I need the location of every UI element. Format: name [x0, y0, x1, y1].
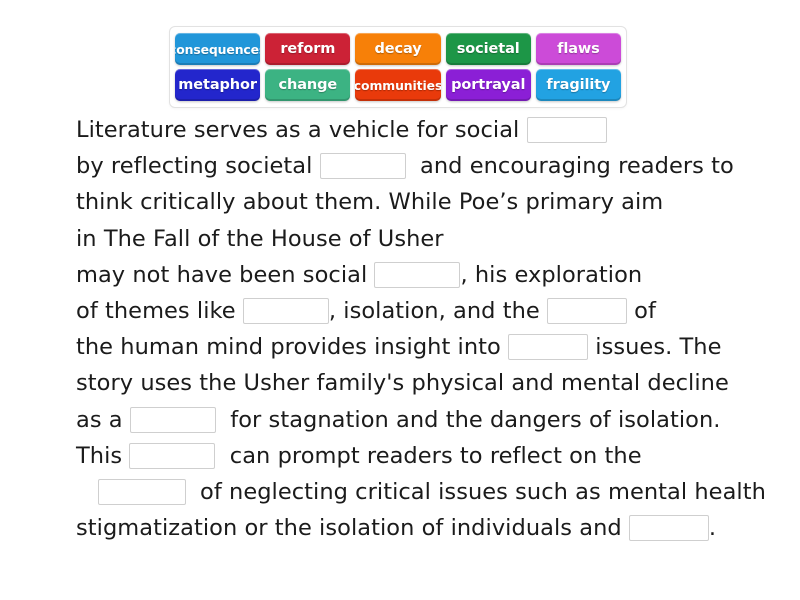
passage-text-segment: and encouraging readers to	[406, 148, 734, 184]
word-bank: consequencesreformdecaysocietalflawsmeta…	[169, 26, 627, 108]
passage-text-segment	[76, 474, 98, 510]
word-tile-consequences[interactable]: consequences	[175, 33, 260, 65]
passage-text-segment: This	[76, 438, 129, 474]
passage-text-segment: of	[627, 293, 656, 329]
passage-text-segment: by reflecting societal	[76, 148, 320, 184]
passage-line: stigmatization or the isolation of indiv…	[76, 510, 736, 546]
passage-text-segment: of themes like	[76, 293, 243, 329]
word-tile-fragility[interactable]: fragility	[536, 69, 621, 101]
blank-drop-target-6[interactable]	[508, 334, 588, 360]
passage-text-segment: think critically about them. While Poe’s…	[76, 184, 663, 220]
passage-line: may not have been social , his explorati…	[76, 257, 736, 293]
passage-text-segment: story uses the Usher family's physical a…	[76, 365, 729, 401]
passage-line: think critically about them. While Poe’s…	[76, 184, 736, 220]
word-tile-reform[interactable]: reform	[265, 33, 350, 65]
word-tile-communities[interactable]: communities	[355, 69, 440, 101]
passage-text-segment: the human mind provides insight into	[76, 329, 508, 365]
word-bank-row: consequencesreformdecaysocietalflaws	[175, 33, 621, 65]
passage-line: of neglecting critical issues such as me…	[76, 474, 736, 510]
blank-drop-target-1[interactable]	[527, 117, 607, 143]
passage-line: story uses the Usher family's physical a…	[76, 365, 736, 401]
passage-text-segment: stigmatization or the isolation of indiv…	[76, 510, 629, 546]
word-bank-row: metaphorchangecommunitiesportrayalfragil…	[175, 69, 621, 101]
passage-text-segment: may not have been social	[76, 257, 374, 293]
passage-line: of themes like , isolation, and the of	[76, 293, 736, 329]
passage-line: in The Fall of the House of Usher	[76, 221, 736, 257]
passage-text-segment: as a	[76, 402, 130, 438]
blank-drop-target-2[interactable]	[320, 153, 406, 179]
passage-text-segment: , his exploration	[460, 257, 642, 293]
passage-line: Literature serves as a vehicle for socia…	[76, 112, 736, 148]
word-tile-flaws[interactable]: flaws	[536, 33, 621, 65]
passage-line: the human mind provides insight into iss…	[76, 329, 736, 365]
passage-text-segment: can prompt readers to reflect on the	[215, 438, 641, 474]
passage-text-segment: issues. The	[588, 329, 721, 365]
blank-drop-target-4[interactable]	[243, 298, 329, 324]
passage-text-segment: of neglecting critical issues such as me…	[186, 474, 766, 510]
passage-line: This can prompt readers to reflect on th…	[76, 438, 736, 474]
word-tile-portrayal[interactable]: portrayal	[446, 69, 531, 101]
blank-drop-target-8[interactable]	[129, 443, 215, 469]
passage-text-segment: in The Fall of the House of Usher	[76, 221, 444, 257]
passage-text-segment: , isolation, and the	[329, 293, 547, 329]
blank-drop-target-7[interactable]	[130, 407, 216, 433]
passage-line: by reflecting societal and encouraging r…	[76, 148, 736, 184]
word-tile-societal[interactable]: societal	[446, 33, 531, 65]
word-tile-change[interactable]: change	[265, 69, 350, 101]
passage-text-segment: Literature serves as a vehicle for socia…	[76, 112, 527, 148]
blank-drop-target-3[interactable]	[374, 262, 460, 288]
blank-drop-target-10[interactable]	[629, 515, 709, 541]
passage-text-segment: for stagnation and the dangers of isolat…	[216, 402, 721, 438]
word-tile-metaphor[interactable]: metaphor	[175, 69, 260, 101]
blank-drop-target-9[interactable]	[98, 479, 186, 505]
blank-drop-target-5[interactable]	[547, 298, 627, 324]
passage-line: as a for stagnation and the dangers of i…	[76, 402, 736, 438]
passage-text: Literature serves as a vehicle for socia…	[76, 112, 736, 546]
passage-text-segment: .	[709, 510, 716, 546]
word-tile-decay[interactable]: decay	[355, 33, 440, 65]
